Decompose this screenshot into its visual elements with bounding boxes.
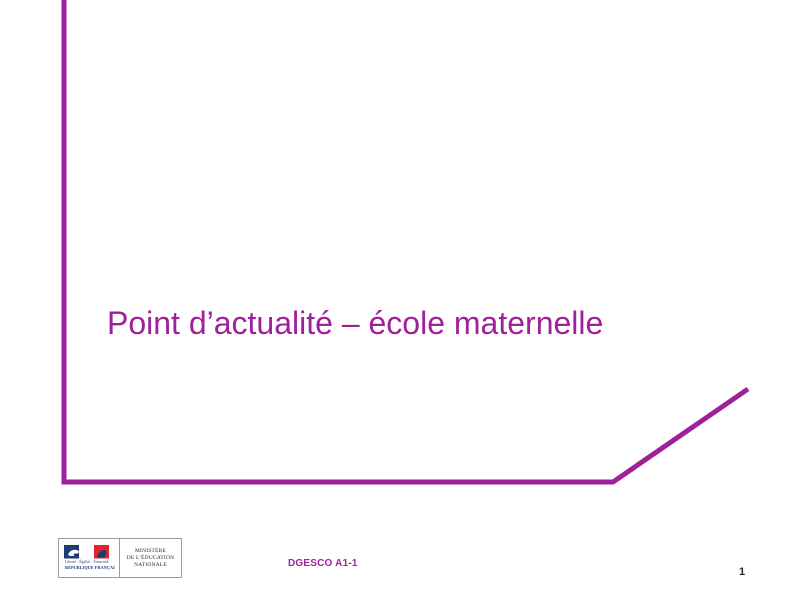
marianne-flag-icon: Liberté · Égalité · Fraternité RÉPUBLIQU… bbox=[63, 544, 115, 572]
ministry-line-2: DE L’ÉDUCATION bbox=[127, 555, 174, 562]
service-identifier: DGESCO A1-1 bbox=[288, 558, 358, 569]
frame-vertical-horizontal-diagonal-path bbox=[64, 0, 748, 482]
purple-angled-frame-decoration bbox=[0, 0, 800, 600]
ministry-line-1: MINISTÈRE bbox=[127, 548, 174, 555]
ministry-logo-lockup: Liberté · Égalité · Fraternité RÉPUBLIQU… bbox=[58, 538, 182, 578]
page-number: 1 bbox=[730, 566, 754, 578]
republique-francaise-text: RÉPUBLIQUE FRANÇAISE bbox=[65, 565, 115, 570]
republic-motto-text: Liberté · Égalité · Fraternité bbox=[65, 559, 109, 564]
slide-canvas: Point d’actualité – école maternelle Lib bbox=[0, 0, 800, 600]
republique-francaise-logo-cell: Liberté · Égalité · Fraternité RÉPUBLIQU… bbox=[59, 539, 120, 577]
ministry-name-text: MINISTÈRE DE L’ÉDUCATION NATIONALE bbox=[127, 548, 174, 569]
ministry-name-cell: MINISTÈRE DE L’ÉDUCATION NATIONALE bbox=[120, 539, 181, 577]
slide-title: Point d’actualité – école maternelle bbox=[107, 303, 747, 343]
ministry-line-3: NATIONALE bbox=[127, 562, 174, 569]
